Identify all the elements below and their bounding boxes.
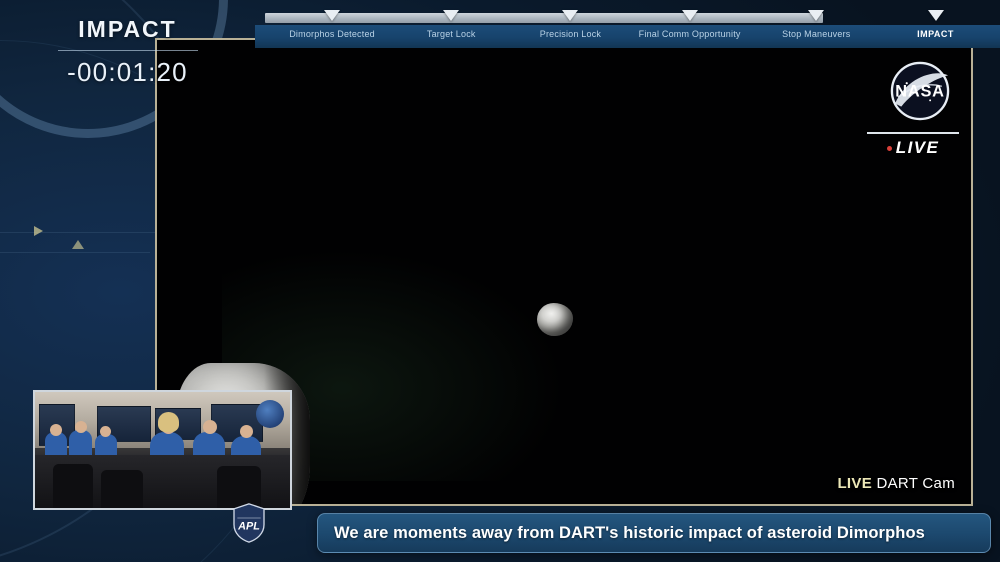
watermark-source-label: DART Cam bbox=[876, 475, 955, 492]
timeline-label-4: Stop Maneuvers bbox=[782, 29, 850, 39]
live-badge-divider bbox=[867, 132, 959, 134]
timeline-label-0: Dimorphos Detected bbox=[289, 29, 375, 39]
timeline-marker-2[interactable] bbox=[562, 10, 578, 21]
live-badge-label: LIVE bbox=[896, 138, 939, 158]
dart-cam-watermark: LIVE DART Cam bbox=[837, 475, 955, 492]
pip-apl-roundel bbox=[256, 400, 284, 428]
lower-third-caption: We are moments away from DART's historic… bbox=[317, 513, 991, 553]
timeline-marker-3[interactable] bbox=[682, 10, 698, 21]
caption-text: We are moments away from DART's historic… bbox=[334, 524, 925, 543]
timeline-track[interactable] bbox=[265, 13, 990, 23]
nasa-logo-icon: NASA bbox=[881, 52, 959, 130]
timeline-label-2: Precision Lock bbox=[540, 29, 601, 39]
timeline-marker-1[interactable] bbox=[443, 10, 459, 21]
pip-room-background bbox=[35, 392, 290, 508]
timeline-marker-0[interactable] bbox=[324, 10, 340, 21]
background-gridline bbox=[0, 252, 150, 253]
timeline-label-1: Target Lock bbox=[427, 29, 476, 39]
watermark-live-label: LIVE bbox=[837, 475, 872, 492]
apl-logo-icon: APL bbox=[232, 503, 266, 543]
broadcast-screen: IMPACT -00:01:20 Dimorphos DetectedTarge… bbox=[0, 0, 1000, 562]
mission-control-pip[interactable] bbox=[33, 390, 292, 510]
timeline-label-3: Final Comm Opportunity bbox=[639, 29, 741, 39]
background-triangle-marker bbox=[34, 226, 43, 236]
timeline-marker-4[interactable] bbox=[808, 10, 824, 21]
countdown-timer: -00:01:20 bbox=[0, 57, 255, 88]
countdown-label: IMPACT bbox=[0, 16, 255, 43]
timeline-progress-fill bbox=[265, 13, 823, 23]
timeline-label-5: IMPACT bbox=[917, 29, 954, 39]
live-indicator-dot bbox=[887, 146, 892, 151]
mission-timeline: Dimorphos DetectedTarget LockPrecision L… bbox=[255, 0, 1000, 48]
svg-text:APL: APL bbox=[237, 521, 260, 533]
background-triangle-marker bbox=[72, 240, 84, 249]
timeline-marker-5[interactable] bbox=[928, 10, 944, 21]
svg-text:NASA: NASA bbox=[895, 82, 944, 100]
impact-countdown-panel: IMPACT -00:01:20 bbox=[0, 0, 255, 96]
countdown-divider bbox=[58, 50, 198, 51]
live-badge: LIVE bbox=[867, 132, 959, 158]
